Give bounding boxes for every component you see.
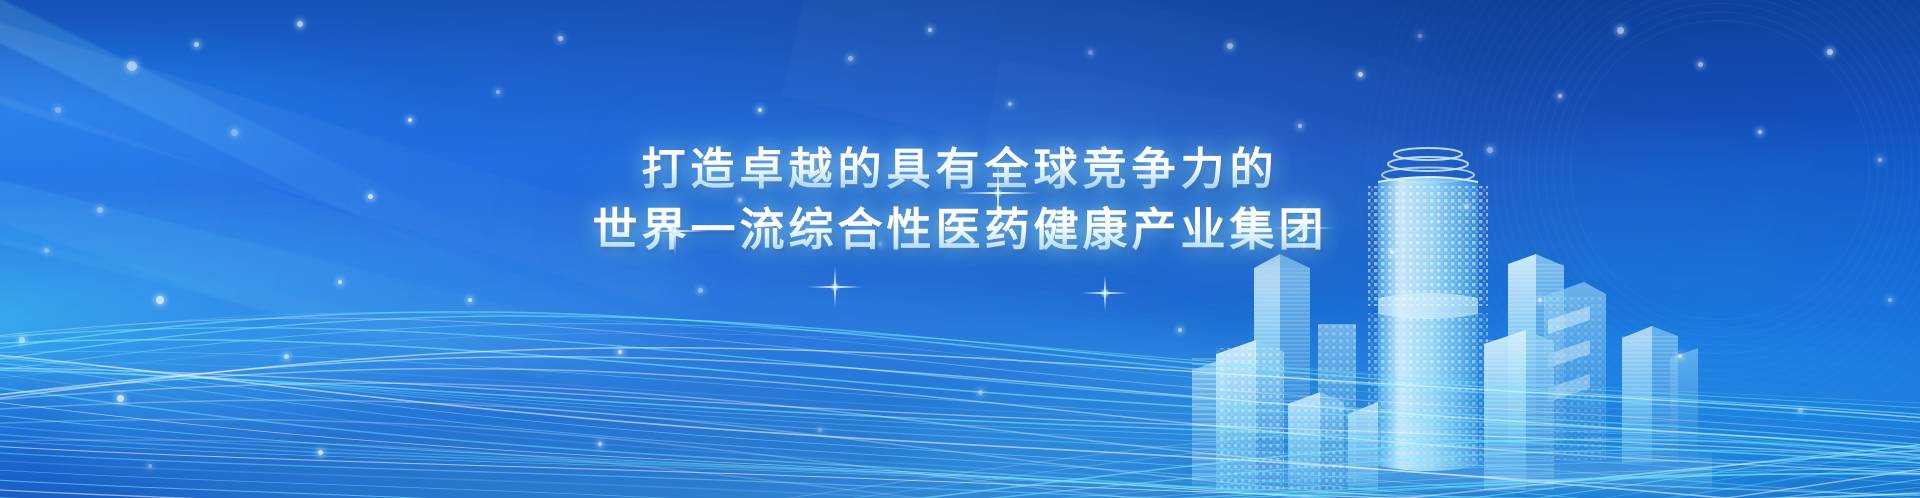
hero-banner: 打造卓越的具有全球竞争力的 世界一流综合性医药健康产业集团 xyxy=(0,0,1920,498)
particle-dot xyxy=(758,108,762,112)
particle-dot xyxy=(848,56,853,61)
particle-dot xyxy=(928,28,932,32)
headline-line-1: 打造卓越的具有全球竞争力的 xyxy=(0,140,1920,200)
particle-dot xyxy=(1088,50,1093,55)
particle-dot xyxy=(496,90,500,94)
particle-dot xyxy=(297,21,303,27)
particle-dot xyxy=(408,118,412,122)
particle-dot xyxy=(1227,43,1233,49)
particle-dot xyxy=(1008,102,1012,106)
headline-line-2: 世界一流综合性医药健康产业集团 xyxy=(0,200,1920,260)
particle-dot xyxy=(194,42,199,47)
particle-dot xyxy=(55,107,61,113)
headline-block: 打造卓越的具有全球竞争力的 世界一流综合性医药健康产业集团 xyxy=(0,140,1920,260)
particle-dot xyxy=(127,61,137,71)
particle-dot xyxy=(558,36,563,41)
particle-dot xyxy=(231,129,238,136)
